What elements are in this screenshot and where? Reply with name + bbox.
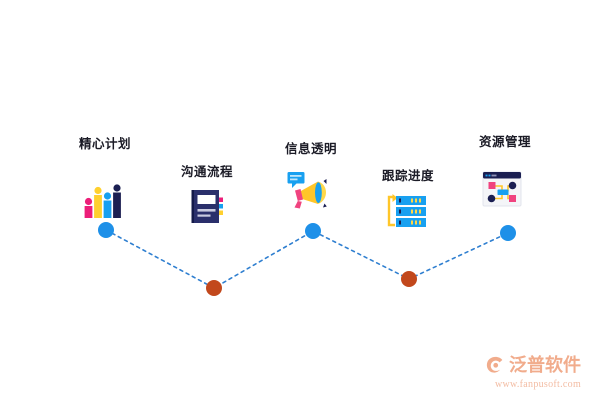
step-label-5: 资源管理 bbox=[479, 131, 531, 150]
milestone-node-2[interactable] bbox=[206, 280, 222, 296]
step-label-3: 信息透明 bbox=[285, 138, 337, 157]
resource-flowchart-window-icon bbox=[480, 167, 524, 211]
megaphone-icon bbox=[285, 168, 329, 212]
step-label-4: 跟踪进度 bbox=[382, 165, 434, 184]
watermark: 泛普软件 www.fanpusoft.com bbox=[484, 352, 592, 392]
watermark-url: www.fanpusoft.com bbox=[484, 379, 592, 390]
bar-chart-icon bbox=[81, 177, 125, 221]
notebook-icon bbox=[185, 184, 229, 228]
progress-rows-icon bbox=[385, 189, 429, 233]
step-label-1: 精心计划 bbox=[79, 133, 131, 152]
milestone-node-5[interactable] bbox=[500, 225, 516, 241]
milestone-node-3[interactable] bbox=[305, 223, 321, 239]
milestone-node-group bbox=[98, 222, 516, 296]
watermark-brand: 泛普软件 bbox=[509, 356, 581, 374]
swirl-logo-icon bbox=[484, 354, 506, 376]
diagram-canvas: 精心计划 沟通流程 bbox=[0, 0, 600, 400]
step-label-2: 沟通流程 bbox=[181, 161, 233, 180]
milestone-node-4[interactable] bbox=[401, 271, 417, 287]
milestone-node-1[interactable] bbox=[98, 222, 114, 238]
zigzag-dashed-line bbox=[106, 230, 508, 288]
